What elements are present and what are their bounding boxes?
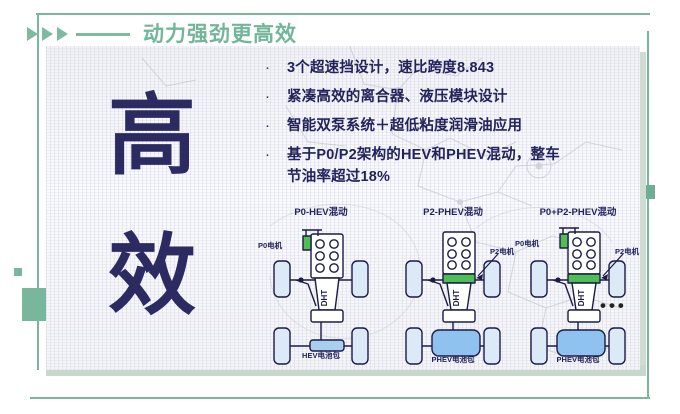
powertrain-diagram-p0-hev: P0-HEV混动	[256, 204, 386, 369]
frame-line-bottom	[30, 397, 650, 399]
accent-square-small-left	[14, 268, 22, 276]
diagram-title: P2-PHEV混动	[388, 204, 518, 218]
feature-char-1: 高	[108, 92, 196, 180]
powertrain-diagram-group: P0-HEV混动	[248, 204, 648, 369]
bullet-text: 节油率超过18%	[287, 167, 390, 187]
play-triangle-icon	[57, 27, 68, 41]
list-item: 节油率超过18%	[262, 167, 634, 187]
transmission-label: DHT	[452, 290, 461, 307]
battery-label: PHEV电池包	[388, 354, 518, 365]
bullet-text: 3个超速挡设计，速比跨度8.843	[287, 58, 494, 78]
bullet-text: 基于P0/P2架构的HEV和PHEV混动，整车	[287, 145, 560, 165]
motor-label-p0: P0电机	[515, 238, 539, 249]
bullet-text: 智能双泵系统＋超低粘度润滑油应用	[287, 116, 522, 136]
play-triangle-icon	[42, 27, 53, 41]
list-item: · 智能双泵系统＋超低粘度润滑油应用	[262, 116, 634, 136]
motor-label-p0: P0电机	[258, 240, 282, 251]
bullet-marker: ·	[262, 87, 287, 106]
list-item: · 基于P0/P2架构的HEV和PHEV混动，整车	[262, 145, 634, 165]
transmission-label: DHT	[577, 290, 586, 307]
bullet-marker: ·	[262, 145, 287, 164]
slide-header: 动力强劲更高效	[27, 21, 297, 47]
motor-label-p2: P2电机	[615, 246, 639, 257]
list-item: · 3个超速挡设计，速比跨度8.843	[262, 58, 634, 78]
bullet-marker: ·	[262, 58, 287, 77]
diagram-title: P0-HEV混动	[256, 204, 386, 218]
feature-char-2: 效	[108, 232, 196, 320]
play-triangle-icon	[27, 27, 38, 41]
page-title: 动力强劲更高效	[143, 24, 297, 45]
diagram-title: P0+P2-PHEV混动	[513, 204, 643, 218]
powertrain-diagram-p2-phev: P2-PHEV混动	[388, 204, 518, 369]
slide-canvas: 动力强劲更高效	[0, 0, 680, 414]
bullet-marker: ·	[262, 116, 287, 135]
frame-line-top	[36, 13, 650, 15]
motor-label-p2: P2电机	[490, 246, 514, 257]
battery-label: HEV电池包	[256, 350, 386, 361]
bullet-text: 紧凑高效的离合器、液压模块设计	[287, 87, 508, 107]
transmission-label: DHT	[320, 290, 329, 307]
ellipsis-indicator: •••	[600, 296, 627, 316]
bullet-list: · 3个超速挡设计，速比跨度8.843 · 紧凑高效的离合器、液压模块设计 · …	[262, 58, 634, 196]
powertrain-diagram-p0-p2-phev: P0+P2-PHEV混动	[513, 204, 643, 369]
diagram-graphic-p2-phev: DHT	[388, 218, 518, 370]
list-item: · 紧凑高效的离合器、液压模块设计	[262, 87, 634, 107]
battery-label: PHEV电池包	[513, 354, 643, 365]
title-rule	[76, 33, 130, 36]
